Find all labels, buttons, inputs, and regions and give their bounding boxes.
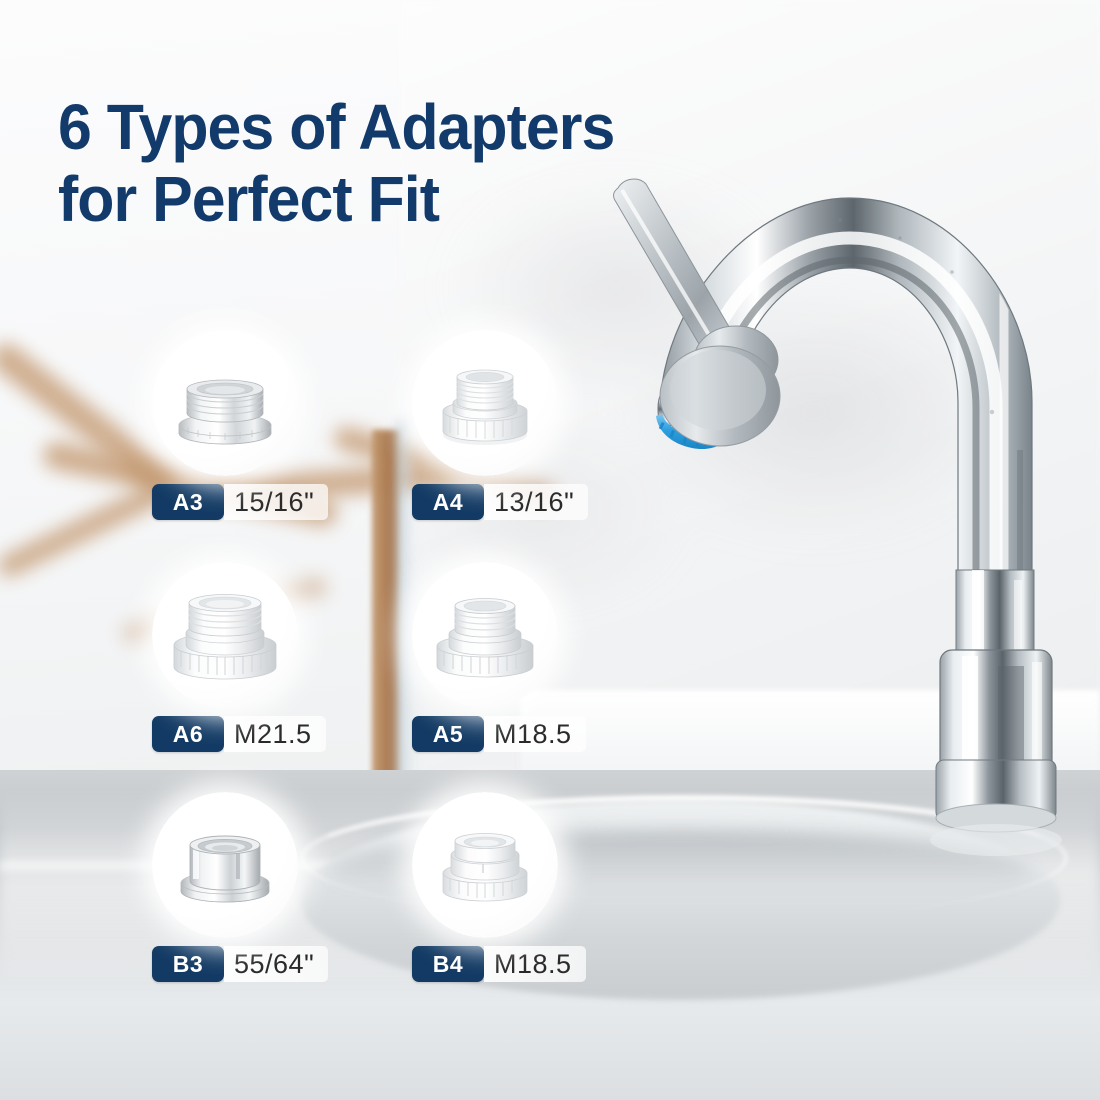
adapter-a3-icon (166, 353, 284, 453)
adapter-photo-bubble (412, 330, 558, 476)
adapter-size-text: M18.5 (484, 716, 586, 752)
adapter-label-row: B4 M18.5 (412, 946, 586, 982)
adapter-grid: A3 15/16" (0, 0, 600, 1100)
adapter-photo-bubble (412, 792, 558, 938)
adapter-code-badge: B4 (412, 946, 484, 982)
adapter-a5-icon (425, 584, 545, 686)
adapter-item-a5[interactable]: A5 M18.5 (412, 562, 672, 752)
adapter-code-badge: A3 (152, 484, 224, 520)
adapter-size-text: 55/64" (224, 946, 328, 982)
adapter-label-row: A5 M18.5 (412, 716, 586, 752)
adapter-photo-bubble (152, 330, 298, 476)
adapter-item-a4[interactable]: A4 13/16" (412, 330, 672, 520)
adapter-size-text: 15/16" (224, 484, 328, 520)
adapter-code-badge: A4 (412, 484, 484, 520)
adapter-label-row: A4 13/16" (412, 484, 588, 520)
infographic-canvas: 6 Types of Adapters for Perfect Fit (0, 0, 1100, 1100)
adapter-item-a6[interactable]: A6 M21.5 (152, 562, 412, 752)
adapter-item-a3[interactable]: A3 15/16" (152, 330, 412, 520)
faucet-base (930, 760, 1062, 856)
faucet-illustration (600, 150, 1100, 950)
adapter-label-row: A6 M21.5 (152, 716, 326, 752)
adapter-b3-icon (166, 817, 284, 913)
adapter-item-b4[interactable]: B4 M18.5 (412, 792, 672, 982)
adapter-label-row: B3 55/64" (152, 946, 328, 982)
faucet-handle-hub (660, 346, 780, 446)
adapter-size-text: M18.5 (484, 946, 586, 982)
adapter-photo-bubble (152, 562, 298, 708)
adapter-label-row: A3 15/16" (152, 484, 328, 520)
adapter-size-text: 13/16" (484, 484, 588, 520)
adapter-b4-icon (429, 819, 541, 911)
adapter-a4-icon (426, 353, 544, 453)
adapter-code-badge: A5 (412, 716, 484, 752)
adapter-item-b3[interactable]: B3 55/64" (152, 792, 412, 982)
adapter-photo-bubble (412, 562, 558, 708)
adapter-a6-icon (164, 583, 286, 687)
adapter-code-badge: B3 (152, 946, 224, 982)
adapter-code-badge: A6 (152, 716, 224, 752)
adapter-size-text: M21.5 (224, 716, 326, 752)
adapter-photo-bubble (152, 792, 298, 938)
